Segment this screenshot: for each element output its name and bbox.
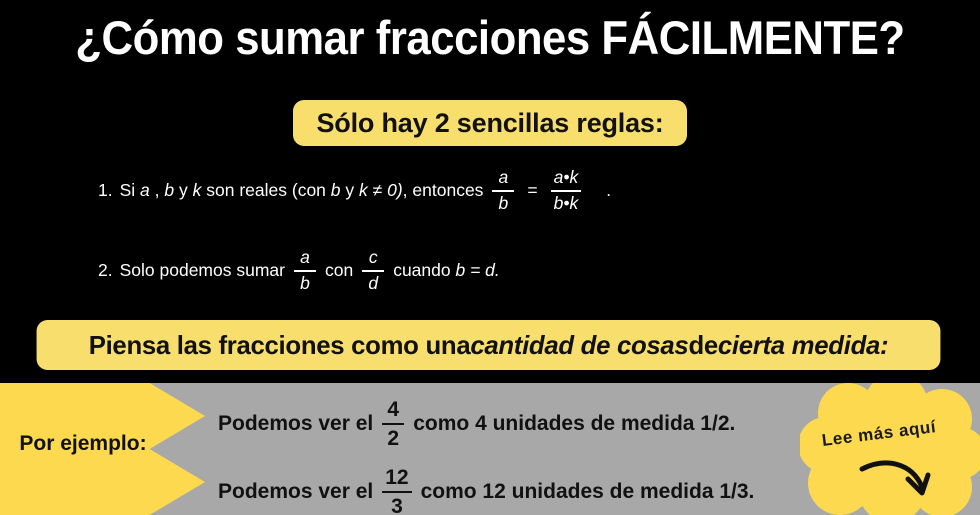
fraction-bar xyxy=(382,491,411,493)
read-more-cloud[interactable]: Lee más aquí xyxy=(800,383,980,515)
think-banner-part-2: de xyxy=(688,330,717,361)
rule-item-2: 2. Solo podemos sumar a b con c d cuando… xyxy=(98,248,500,293)
rule-2-number: 2. xyxy=(98,260,113,281)
rule-1-var-b: b xyxy=(164,180,174,201)
rule-1-text-after: , entonces xyxy=(403,180,484,201)
rule-2-condition: b = d. xyxy=(456,260,500,281)
fraction-bar xyxy=(492,190,514,192)
fraction-denominator: b•k xyxy=(551,194,582,214)
think-banner-emphasis-2: cierta medida: xyxy=(718,330,888,361)
rule-2-text-mid: con xyxy=(325,260,353,281)
rule-1-period: . xyxy=(606,180,611,201)
fraction-bar xyxy=(551,190,582,192)
example-line-1: Podemos ver el 4 2 como 4 unidades de me… xyxy=(218,398,735,450)
rule-1-fraction-right: a•k b•k xyxy=(551,168,582,213)
rule-1-var-b2: b xyxy=(331,180,341,201)
think-banner-part-1: Piensa las fracciones como una xyxy=(89,330,471,361)
fraction-numerator: a xyxy=(297,248,313,268)
example-1-text-before: Podemos ver el xyxy=(218,412,373,436)
fraction-bar xyxy=(294,270,316,272)
page-title: ¿Cómo sumar fracciones FÁCILMENTE? xyxy=(34,10,945,65)
fraction-numerator: c xyxy=(366,248,381,268)
fraction-numerator: a xyxy=(496,168,512,188)
fraction-numerator: a•k xyxy=(551,168,582,188)
example-1-text-after: como 4 unidades de medida 1/2. xyxy=(413,412,735,436)
fraction-bar xyxy=(362,270,384,272)
rule-1-var-k: k xyxy=(193,180,202,201)
por-ejemplo-label: Por ejemplo: xyxy=(8,432,158,456)
rules-banner: Sólo hay 2 sencillas reglas: xyxy=(293,100,687,146)
fraction-denominator: d xyxy=(365,274,381,294)
fraction-bar xyxy=(382,423,404,425)
rule-2-text-before: Solo podemos sumar xyxy=(120,260,285,281)
rule-1-var-a: a xyxy=(140,180,150,201)
poster-canvas: ¿Cómo sumar fracciones FÁCILMENTE? Sólo … xyxy=(0,0,980,515)
example-2-text-after: como 12 unidades de medida 1/3. xyxy=(421,480,755,504)
rule-1-text-mid: son reales (con xyxy=(206,180,326,201)
example-line-2: Podemos ver el 12 3 como 12 unidades de … xyxy=(218,466,754,515)
example-2-fraction: 12 3 xyxy=(382,466,411,515)
rule-2-fraction-left: a b xyxy=(294,248,316,293)
rule-2-text-after: cuando xyxy=(393,260,450,281)
fraction-numerator: 4 xyxy=(384,398,402,421)
think-banner-emphasis-1: cantidad de cosas xyxy=(470,330,688,361)
fraction-denominator: 3 xyxy=(388,495,406,515)
rule-item-1: 1. Si a , b y k son reales (con b y k ≠ … xyxy=(98,168,611,213)
rule-1-and-2: y xyxy=(345,180,354,201)
example-2-text-before: Podemos ver el xyxy=(218,480,373,504)
rules-banner-label: Sólo hay 2 sencillas reglas: xyxy=(316,108,663,139)
rule-1-text-before: Si xyxy=(120,180,136,201)
rule-1-number: 1. xyxy=(98,180,113,201)
think-banner: Piensa las fracciones como una cantidad … xyxy=(37,320,941,370)
rule-1-and-1: y xyxy=(179,180,188,201)
fraction-denominator: b xyxy=(496,194,512,214)
rule-2-fraction-right: c d xyxy=(362,248,384,293)
fraction-denominator: 2 xyxy=(384,427,402,450)
fraction-numerator: 12 xyxy=(382,466,411,489)
fraction-denominator: b xyxy=(297,274,313,294)
example-1-fraction: 4 2 xyxy=(382,398,404,450)
rule-1-fraction-left: a b xyxy=(492,168,514,213)
rule-1-equals: = xyxy=(527,180,537,201)
rule-1-condition: k ≠ 0) xyxy=(359,180,403,201)
